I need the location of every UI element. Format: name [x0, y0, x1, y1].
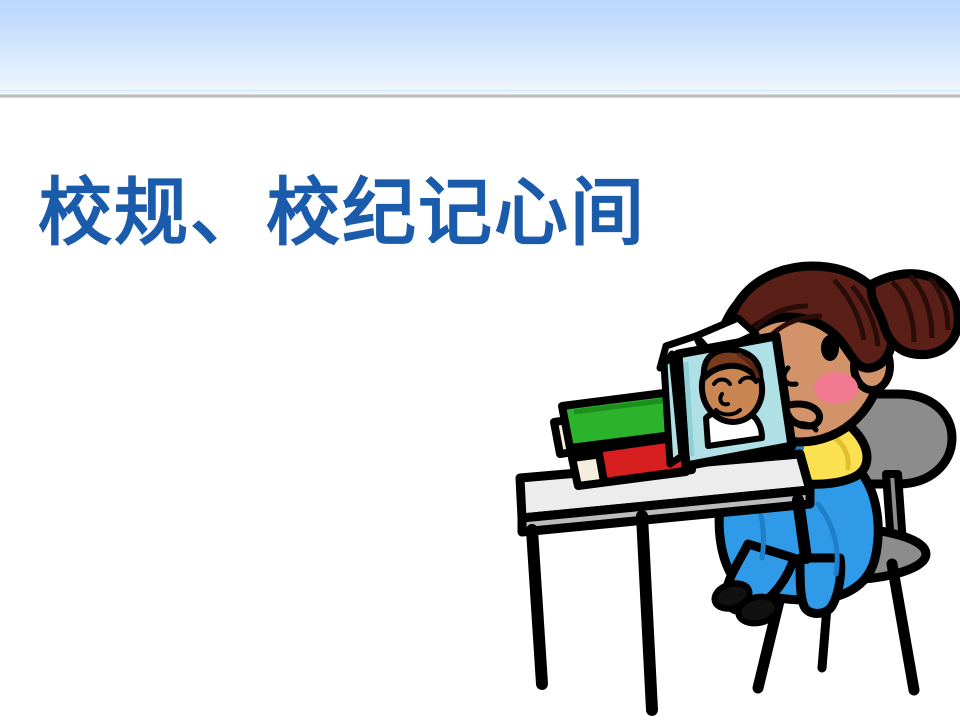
header-divider-shadow [0, 97, 960, 99]
illustration-girl-reading-at-desk [500, 258, 960, 720]
desk-leg-left [532, 530, 542, 684]
slide-title: 校规、校纪记心间 [38, 176, 646, 251]
header-gradient-band [0, 0, 960, 90]
girl-eye-right [821, 335, 839, 361]
book-cover-portrait [698, 350, 767, 446]
presentation-slide: 校规、校纪记心间 [0, 0, 960, 720]
desk-leg-right [798, 500, 806, 558]
girl-cheek-right [814, 372, 858, 404]
open-book-with-portrait [660, 318, 792, 466]
desk-leg-front [642, 516, 652, 710]
